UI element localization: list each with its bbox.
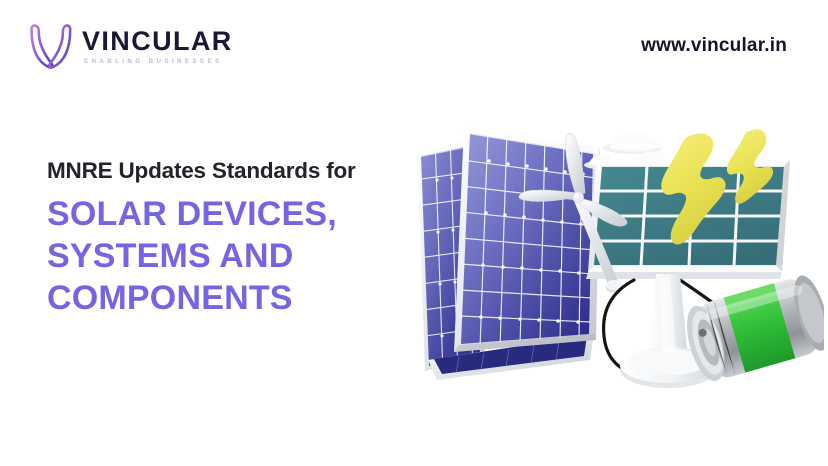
brand-logo-text: VINCULAR ENABLING BUSINESSES — [82, 26, 233, 65]
headline-kicker: MNRE Updates Standards for — [47, 158, 407, 185]
page-title: SOLAR DEVICES, SYSTEMS AND COMPONENTS — [47, 193, 407, 319]
headline-block: MNRE Updates Standards for SOLAR DEVICES… — [47, 158, 407, 319]
brand-tagline: ENABLING BUSINESSES — [82, 59, 233, 65]
cloud-large-icon — [603, 131, 663, 154]
headline-line-2: SYSTEMS AND — [47, 235, 407, 277]
brand-name: VINCULAR — [82, 28, 233, 55]
brand-logo[interactable]: VINCULAR ENABLING BUSINESSES — [26, 20, 233, 72]
renewable-energy-illustration — [404, 108, 824, 408]
headline-line-3: COMPONENTS — [47, 277, 407, 319]
vincular-butterfly-v-mark-icon — [26, 20, 76, 72]
headline-line-1: SOLAR DEVICES, — [47, 193, 407, 235]
renewable-energy-graphic-icon — [404, 108, 824, 408]
site-url[interactable]: www.vincular.in — [641, 35, 787, 57]
battery-cell-icon — [680, 272, 824, 386]
marketing-banner: VINCULAR ENABLING BUSINESSES www.vincula… — [0, 0, 828, 466]
